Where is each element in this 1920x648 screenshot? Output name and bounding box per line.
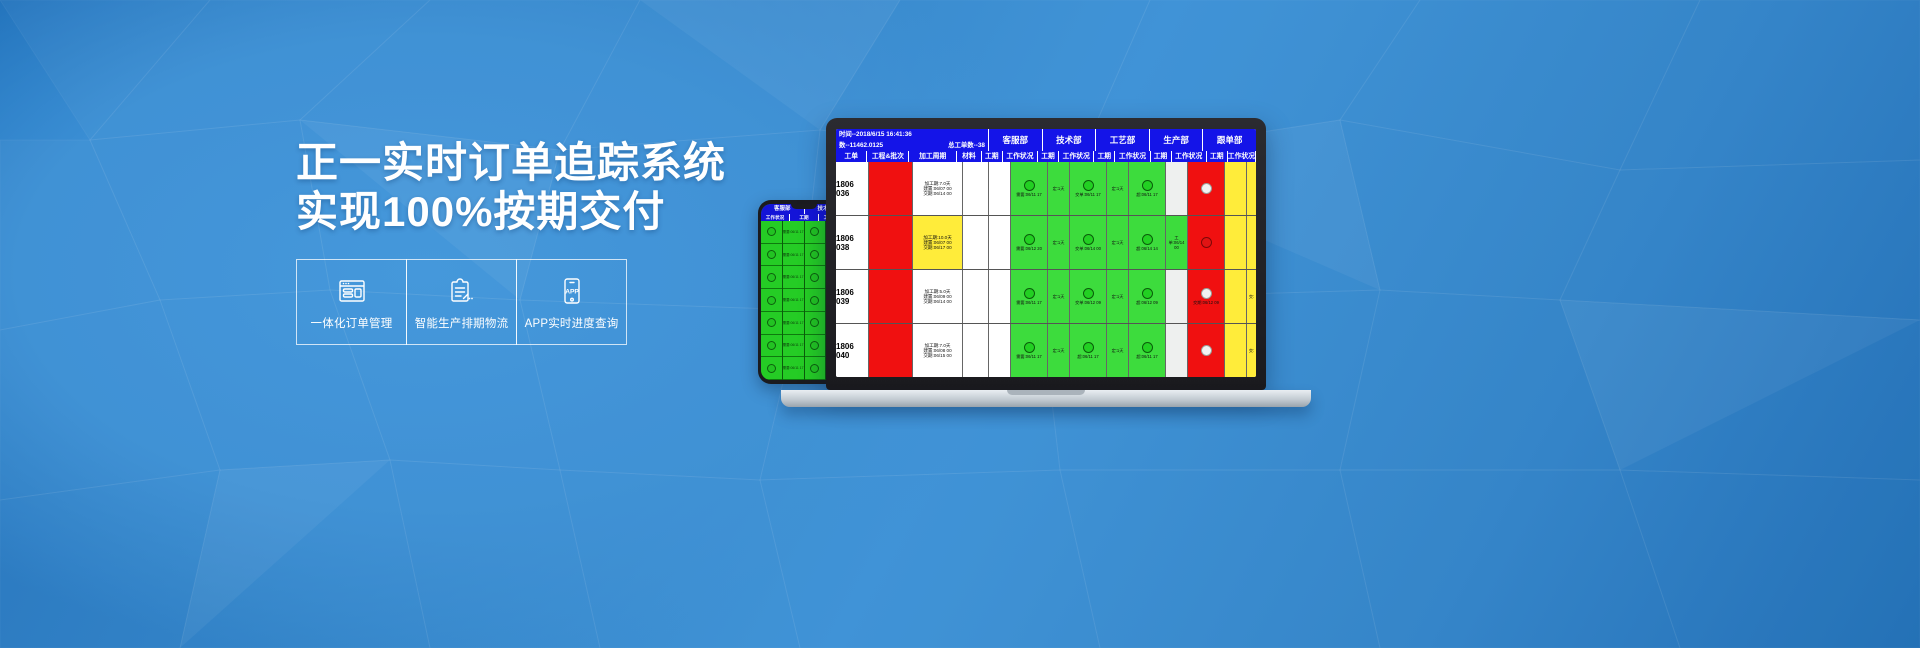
status-dot-green-icon [767,250,776,259]
dept-header-process: 工艺部 [1096,129,1150,151]
cell-period-3: 定:1天 [1107,216,1129,269]
col-header-period-2: 工期 [1038,151,1059,162]
col-header-material: 材料 [957,151,982,162]
cell-period-1 [989,324,1011,377]
table-row[interactable]: 1806 036 加工期:7.0天 建置:06/07 00 交期:06/14 0… [836,162,1256,216]
col-header-status-3: 工作状况 [1115,151,1150,162]
phone-cell[interactable] [761,221,782,244]
cell-batch [869,162,913,215]
phone-cell[interactable]: 需要:06/11 17 [783,221,804,244]
status-dot-green-icon [1083,234,1094,245]
dept-header-production: 生产部 [1150,129,1204,151]
cell-order-number: 1806 040 [836,324,869,377]
table-row[interactable]: 1806 040 加工期:7.0天 建置:06/08 00 交期:06/15 0… [836,324,1256,377]
cell-status-3[interactable]: 超:06/14 14 [1129,216,1166,269]
phone-cell-text: 需要:06/11 17 [783,343,804,347]
phone-cell[interactable]: 需要:06/11 17 [783,335,804,358]
phone-cell[interactable] [805,289,826,312]
status-dot-white-icon [1201,345,1212,356]
status-dot-green-icon [810,341,819,350]
dashboard-column-headers: 工单 工程&批次 加工周期 材料 工期 工作状况 工期 工作状况 工期 工作状况… [836,151,1256,162]
cell-status-5[interactable] [1247,216,1256,269]
phone-notch [791,204,817,209]
col-header-period-1: 工期 [982,151,1003,162]
phone-column-date: 需要:06/11 17 需要:06/11 17 需要:06/11 17 需要:0… [783,221,805,380]
promo-banner: 正一实时订单追踪系统 实现100%按期交付 一体化订单管理 [0,0,1920,648]
cell-period-4 [1166,324,1188,377]
status-dot-white-icon [1201,183,1212,194]
phone-cell[interactable] [805,357,826,380]
table-row[interactable]: 1806 038 加工期:10.0天 建置:06/07 00 交期:06/17 … [836,216,1256,270]
status-dot-green-icon [1083,288,1094,299]
dashboard-header: 时间--2018/6/15 16:41:36 数--11462.0125 总工单… [836,129,1256,151]
phone-cell[interactable] [761,357,782,380]
order-tracking-dashboard: 时间--2018/6/15 16:41:36 数--11462.0125 总工单… [836,129,1256,377]
cell-period-2: 定:1天 [1048,162,1070,215]
phone-cell[interactable] [805,244,826,267]
cell-period-5 [1225,162,1247,215]
laptop-mockup: 时间--2018/6/15 16:41:36 数--11462.0125 总工单… [826,118,1311,407]
phone-cell[interactable] [761,244,782,267]
status-dot-green-icon [810,227,819,236]
status-dot-green-icon [767,364,776,373]
phone-cell-text: 需要:06/11 17 [783,230,804,234]
col-header-batch: 工程&批次 [867,151,909,162]
phone-cell-text: 需要:06/11 17 [783,298,804,302]
cell-material [963,162,989,215]
status-dot-green-icon [767,296,776,305]
status-dot-green-icon [1024,180,1035,191]
status-dot-green-icon [810,273,819,282]
phone-column-status [761,221,783,380]
laptop-lid: 时间--2018/6/15 16:41:36 数--11462.0125 总工单… [826,118,1266,390]
laptop-base [781,390,1311,407]
status-dot-green-icon [767,318,776,327]
cell-order-number: 1806 036 [836,162,869,215]
phone-column-status-2 [805,221,827,380]
status-dot-green-icon [767,227,776,236]
status-dot-green-icon [1024,342,1035,353]
phone-cell[interactable] [805,266,826,289]
cell-status-5[interactable]: 交: [1247,324,1256,377]
cell-order-number: 1806 039 [836,270,869,323]
status-dot-green-icon [1142,180,1153,191]
cell-material [963,270,989,323]
dept-header-customer-service: 客服部 [989,129,1043,151]
cell-status-5[interactable] [1247,162,1256,215]
cell-cycle: 加工期:5.0天 建置:06/09 00 交期:06/14 00 [913,270,963,323]
phone-cell-text: 需要:06/11 17 [783,366,804,370]
dept-header-order-follow: 跟单部 [1203,129,1256,151]
cell-batch [869,270,913,323]
cell-period-3: 定:1天 [1107,324,1129,377]
phone-cell[interactable]: 需要:06/11 17 [783,312,804,335]
dashboard-total-orders: 总工单数--38 [948,140,985,151]
cell-period-5 [1225,270,1247,323]
cell-period-3: 定:1天 [1107,162,1129,215]
cell-status-2[interactable]: 交单:06/12 09 [1070,270,1107,323]
status-dot-green-icon [1083,180,1094,191]
status-dot-green-icon [767,341,776,350]
cell-status-1[interactable]: 需要:06/11 17 [1011,324,1048,377]
status-dot-green-icon [1083,342,1094,353]
cell-period-2: 定:1天 [1048,324,1070,377]
cell-status-4[interactable] [1188,324,1225,377]
cell-period-1 [989,270,1011,323]
dashboard-rows: 1806 036 加工期:7.0天 建置:06/07 00 交期:06/14 0… [836,162,1256,377]
phone-cell[interactable] [761,335,782,358]
status-dot-red-icon [1201,237,1212,248]
phone-cell[interactable] [761,312,782,335]
cell-period-2: 定:1天 [1048,270,1070,323]
status-dot-green-icon [1142,342,1153,353]
cell-period-1 [989,162,1011,215]
cell-material [963,324,989,377]
cell-cycle: 加工期:7.0天 建置:06/07 00 交期:06/14 00 [913,162,963,215]
cell-period-4 [1166,162,1188,215]
cell-period-4 [1166,270,1188,323]
cell-period-3: 定:1天 [1107,270,1129,323]
cell-status-2[interactable]: 交单:06/14 00 [1070,216,1107,269]
status-dot-green-icon [767,273,776,282]
cell-material [963,216,989,269]
phone-cell[interactable]: 需要:06/11 17 [783,357,804,380]
cell-status-1[interactable]: 需要:06/11 17 [1011,270,1048,323]
cell-status-2[interactable]: 交单:06/11 17 [1070,162,1107,215]
phone-subhead: 工作状况 [761,214,790,221]
cell-order-number: 1806 038 [836,216,869,269]
phone-cell[interactable] [761,266,782,289]
dashboard-meta: 时间--2018/6/15 16:41:36 数--11462.0125 总工单… [836,129,989,151]
cell-status-1[interactable]: 需要:06/11 17 [1011,162,1048,215]
status-dot-green-icon [810,318,819,327]
phone-cell[interactable]: 需要:06/11 17 [783,289,804,312]
col-header-status-1: 工作状况 [1003,151,1038,162]
cell-period-5 [1225,216,1247,269]
col-header-status-4: 工作状况 [1172,151,1207,162]
cell-period-4: 工单:06/14 00 [1166,216,1188,269]
cell-status-3[interactable]: 超:06/12 09 [1129,270,1166,323]
phone-cell[interactable] [805,312,826,335]
status-dot-green-icon [1142,234,1153,245]
col-header-order: 工单 [836,151,867,162]
cell-period-2: 定:1天 [1048,216,1070,269]
table-row[interactable]: 1806 039 加工期:5.0天 建置:06/09 00 交期:06/14 0… [836,270,1256,324]
cell-batch [869,324,913,377]
col-header-cycle: 加工周期 [909,151,957,162]
cell-period-1 [989,216,1011,269]
dashboard-department-headers: 客服部 技术部 工艺部 生产部 跟单部 [989,129,1256,151]
dashboard-time: 时间--2018/6/15 16:41:36 [836,129,988,140]
dashboard-count: 数--11462.0125 [839,140,883,151]
cell-status-3[interactable]: 超:06/11 17 [1129,324,1166,377]
col-header-period-4: 工期 [1151,151,1172,162]
phone-cell[interactable] [805,221,826,244]
cell-status-4[interactable]: 交期:06/12 09 [1188,270,1225,323]
status-dot-green-icon [810,296,819,305]
cell-status-3[interactable]: 超:06/11 17 [1129,162,1166,215]
status-dot-green-icon [1024,234,1035,245]
col-header-status-2: 工作状况 [1059,151,1094,162]
cell-status-5[interactable]: 交: [1247,270,1256,323]
status-dot-green-icon [810,250,819,259]
phone-cell[interactable] [761,289,782,312]
dashboard-counts: 数--11462.0125 总工单数--38 [836,140,988,151]
cell-status-4[interactable] [1188,162,1225,215]
cell-status-2[interactable]: 超:06/11 17 [1070,324,1107,377]
laptop-screen: 时间--2018/6/15 16:41:36 数--11462.0125 总工单… [836,129,1256,377]
status-dot-green-icon [810,364,819,373]
col-header-period-3: 工期 [1094,151,1115,162]
status-dot-green-icon [1024,288,1035,299]
status-dot-white-icon [1201,288,1212,299]
phone-cell-text: 需要:06/11 17 [783,275,804,279]
col-header-period-5: 工期 [1207,151,1228,162]
col-header-status-5: 工作状况 [1228,151,1256,162]
status-dot-green-icon [1142,288,1153,299]
cell-cycle: 加工期:7.0天 建置:06/08 00 交期:06/15 00 [913,324,963,377]
cell-cycle: 加工期:10.0天 建置:06/07 00 交期:06/17 00 [913,216,963,269]
cell-batch [869,216,913,269]
dept-header-technology: 技术部 [1043,129,1097,151]
phone-cell[interactable]: 需要:06/11 17 [783,244,804,267]
cell-period-5 [1225,324,1247,377]
cell-status-1[interactable]: 需要:06/12 20 [1011,216,1048,269]
phone-cell[interactable] [805,335,826,358]
phone-subhead: 工期 [790,214,819,221]
phone-cell-text: 需要:06/11 17 [783,321,804,325]
phone-cell-text: 需要:06/11 17 [783,253,804,257]
device-mockups: 客服部 技术部 工作状况 工期 工作状况 [0,0,1920,648]
phone-cell[interactable]: 需要:06/11 17 [783,266,804,289]
cell-status-4[interactable] [1188,216,1225,269]
